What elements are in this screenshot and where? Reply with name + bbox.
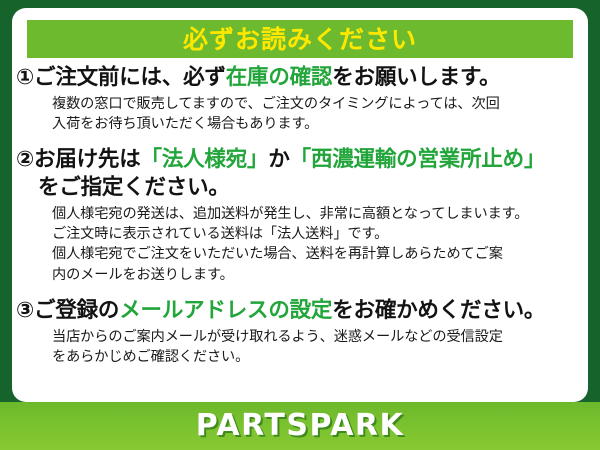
- notice-item-2-heading-accent-2: 「西濃運輸の営業所止め」: [290, 147, 546, 172]
- notice-item-3-marker: ③: [16, 298, 34, 323]
- notice-item-2-heading-plain: お届け先は: [34, 147, 141, 172]
- white-card: 必ずお読みください ①ご注文前には、必ず在庫の確認をお願いします。 複数の窓口で…: [12, 8, 588, 402]
- notice-item-1-heading: ①ご注文前には、必ず在庫の確認をお願いします。: [16, 64, 582, 92]
- notice-item-2: ②お届け先は「法人様宛」か「西濃運輸の営業所止め」をご指定ください。 個人様宅宛…: [12, 146, 588, 285]
- notice-item-3-body: 当店からのご案内メールが受け取れるよう、迷惑メールなどの受信設定 をあらかじめご…: [16, 327, 582, 367]
- notice-item-3-heading-tail: をお確かめください。: [332, 298, 545, 323]
- notice-item-3-heading-accent: メールアドレスの設定: [119, 298, 332, 323]
- notice-item-2-heading: ②お届け先は「法人様宛」か「西濃運輸の営業所止め」をご指定ください。: [16, 146, 582, 202]
- notice-item-1-heading-tail: をお願いします。: [332, 65, 500, 90]
- notice-banner-image: 必ずお読みください ①ご注文前には、必ず在庫の確認をお願いします。 複数の窓口で…: [0, 0, 600, 450]
- footer-bar: PARTSPARK: [0, 402, 600, 450]
- notice-item-2-marker: ②: [16, 147, 34, 172]
- notice-item-3-heading: ③ご登録のメールアドレスの設定をお確かめください。: [16, 297, 582, 325]
- notice-item-2-body: 個人様宅宛の発送は、追加送料が発生し、非常に高額となってしまいます。 ご注文時に…: [16, 204, 582, 285]
- notice-item-2-heading-accent: 「法人様宛」: [141, 147, 269, 172]
- notice-item-3-heading-plain: ご登録の: [34, 298, 119, 323]
- brand-logo: PARTSPARK: [196, 411, 405, 441]
- notice-item-1-body: 複数の窓口で販売してますので、ご注文のタイミングによっては、次回 入荷をお待ち頂…: [16, 94, 582, 134]
- notice-item-2-heading-mid: か: [268, 147, 289, 172]
- banner-title: 必ずお読みください: [183, 27, 417, 52]
- notice-item-3: ③ご登録のメールアドレスの設定をお確かめください。 当店からのご案内メールが受け…: [12, 297, 588, 367]
- notice-items-list: ①ご注文前には、必ず在庫の確認をお願いします。 複数の窓口で販売してますので、ご…: [12, 64, 588, 367]
- notice-item-1: ①ご注文前には、必ず在庫の確認をお願いします。 複数の窓口で販売してますので、ご…: [12, 64, 588, 134]
- header-banner: 必ずお読みください: [27, 20, 573, 58]
- notice-item-1-marker: ①: [16, 65, 34, 90]
- notice-item-2-heading-line-2: をご指定ください。: [16, 174, 582, 202]
- notice-item-1-heading-accent: 在庫の確認: [226, 65, 333, 90]
- notice-item-1-heading-plain: ご注文前には、必ず: [34, 65, 226, 90]
